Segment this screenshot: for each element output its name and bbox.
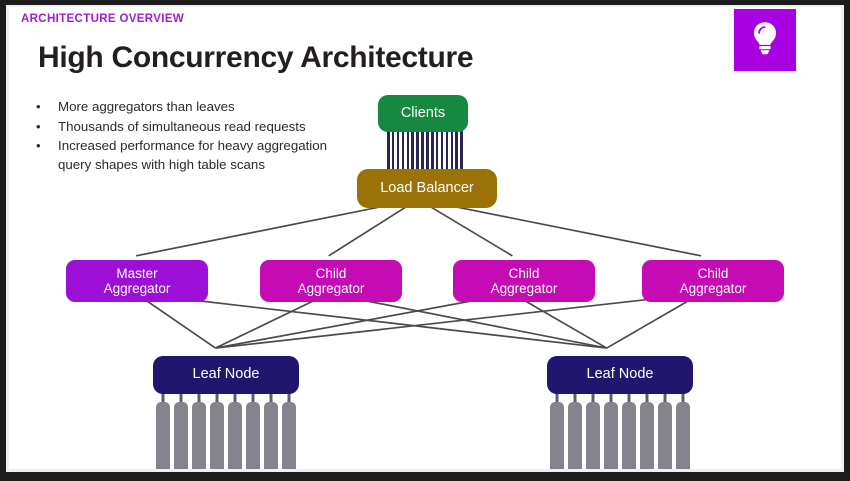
client-link-stripe (441, 131, 444, 174)
agg-label-line1: Child (698, 266, 729, 281)
leaf-left-partitions (153, 392, 299, 469)
leaf-bar (156, 402, 170, 469)
leaf-bar (246, 402, 260, 469)
agg-label-line1: Child (509, 266, 540, 281)
leaf-bar (228, 402, 242, 469)
leaf-bar (622, 402, 636, 469)
node-child-aggregator-1-label: Child Aggregator (298, 266, 365, 297)
node-clients[interactable]: Clients (378, 95, 468, 132)
client-link-stripe (446, 131, 449, 174)
node-leaf-right[interactable]: Leaf Node (547, 356, 693, 394)
slide-canvas: ARCHITECTURE OVERVIEW High Concurrency A… (9, 7, 841, 469)
node-child-aggregator-2[interactable]: Child Aggregator (453, 260, 595, 302)
slide-gutter: ARCHITECTURE OVERVIEW High Concurrency A… (6, 5, 844, 472)
client-link-stripe (426, 131, 429, 174)
leaf-bar (282, 402, 296, 469)
agg-label-line2: Aggregator (298, 281, 365, 296)
client-link-stripe (421, 131, 424, 174)
node-master-aggregator[interactable]: Master Aggregator (66, 260, 208, 302)
leaf-bar (586, 402, 600, 469)
leaf-bar (640, 402, 654, 469)
leaf-right-partitions (547, 392, 693, 469)
agg-label-line2: Aggregator (104, 281, 171, 296)
leaf-bar (210, 402, 224, 469)
leaf-bar (550, 402, 564, 469)
client-link-stripe (392, 131, 395, 174)
agg-label-line1: Child (316, 266, 347, 281)
architecture-diagram: Clients (9, 7, 841, 469)
client-link-stripe (436, 131, 439, 174)
leaf-bar (604, 402, 618, 469)
diagram-edges (9, 7, 841, 469)
client-link-stripe (402, 131, 405, 174)
node-load-balancer-label: Load Balancer (380, 181, 474, 197)
leaf-bar (174, 402, 188, 469)
agg-label-line2: Aggregator (680, 281, 747, 296)
agg-label-line2: Aggregator (491, 281, 558, 296)
leaf-bar (658, 402, 672, 469)
node-master-aggregator-label: Master Aggregator (104, 266, 171, 297)
node-leaf-left[interactable]: Leaf Node (153, 356, 299, 394)
client-link-stripe (460, 131, 463, 174)
leaf-bar (192, 402, 206, 469)
node-clients-label: Clients (401, 106, 445, 122)
client-link-stripe (431, 131, 434, 174)
node-child-aggregator-3-label: Child Aggregator (680, 266, 747, 297)
leaf-bar (568, 402, 582, 469)
client-link-stripe (397, 131, 400, 174)
client-link-stripe (411, 131, 414, 174)
client-link-stripe (387, 131, 390, 174)
node-leaf-right-label: Leaf Node (587, 367, 654, 383)
leaf-bar (676, 402, 690, 469)
client-link-stripe (416, 131, 419, 174)
node-child-aggregator-3[interactable]: Child Aggregator (642, 260, 784, 302)
leaf-bar (264, 402, 278, 469)
client-link-bundle (387, 131, 463, 174)
node-load-balancer[interactable]: Load Balancer (357, 169, 497, 208)
slide-frame: ARCHITECTURE OVERVIEW High Concurrency A… (0, 0, 850, 481)
node-child-aggregator-1[interactable]: Child Aggregator (260, 260, 402, 302)
agg-label-line1: Master (116, 266, 157, 281)
client-link-stripe (455, 131, 458, 174)
client-link-stripe (407, 131, 410, 174)
client-link-stripe (451, 131, 454, 174)
node-leaf-left-label: Leaf Node (193, 367, 260, 383)
node-child-aggregator-2-label: Child Aggregator (491, 266, 558, 297)
